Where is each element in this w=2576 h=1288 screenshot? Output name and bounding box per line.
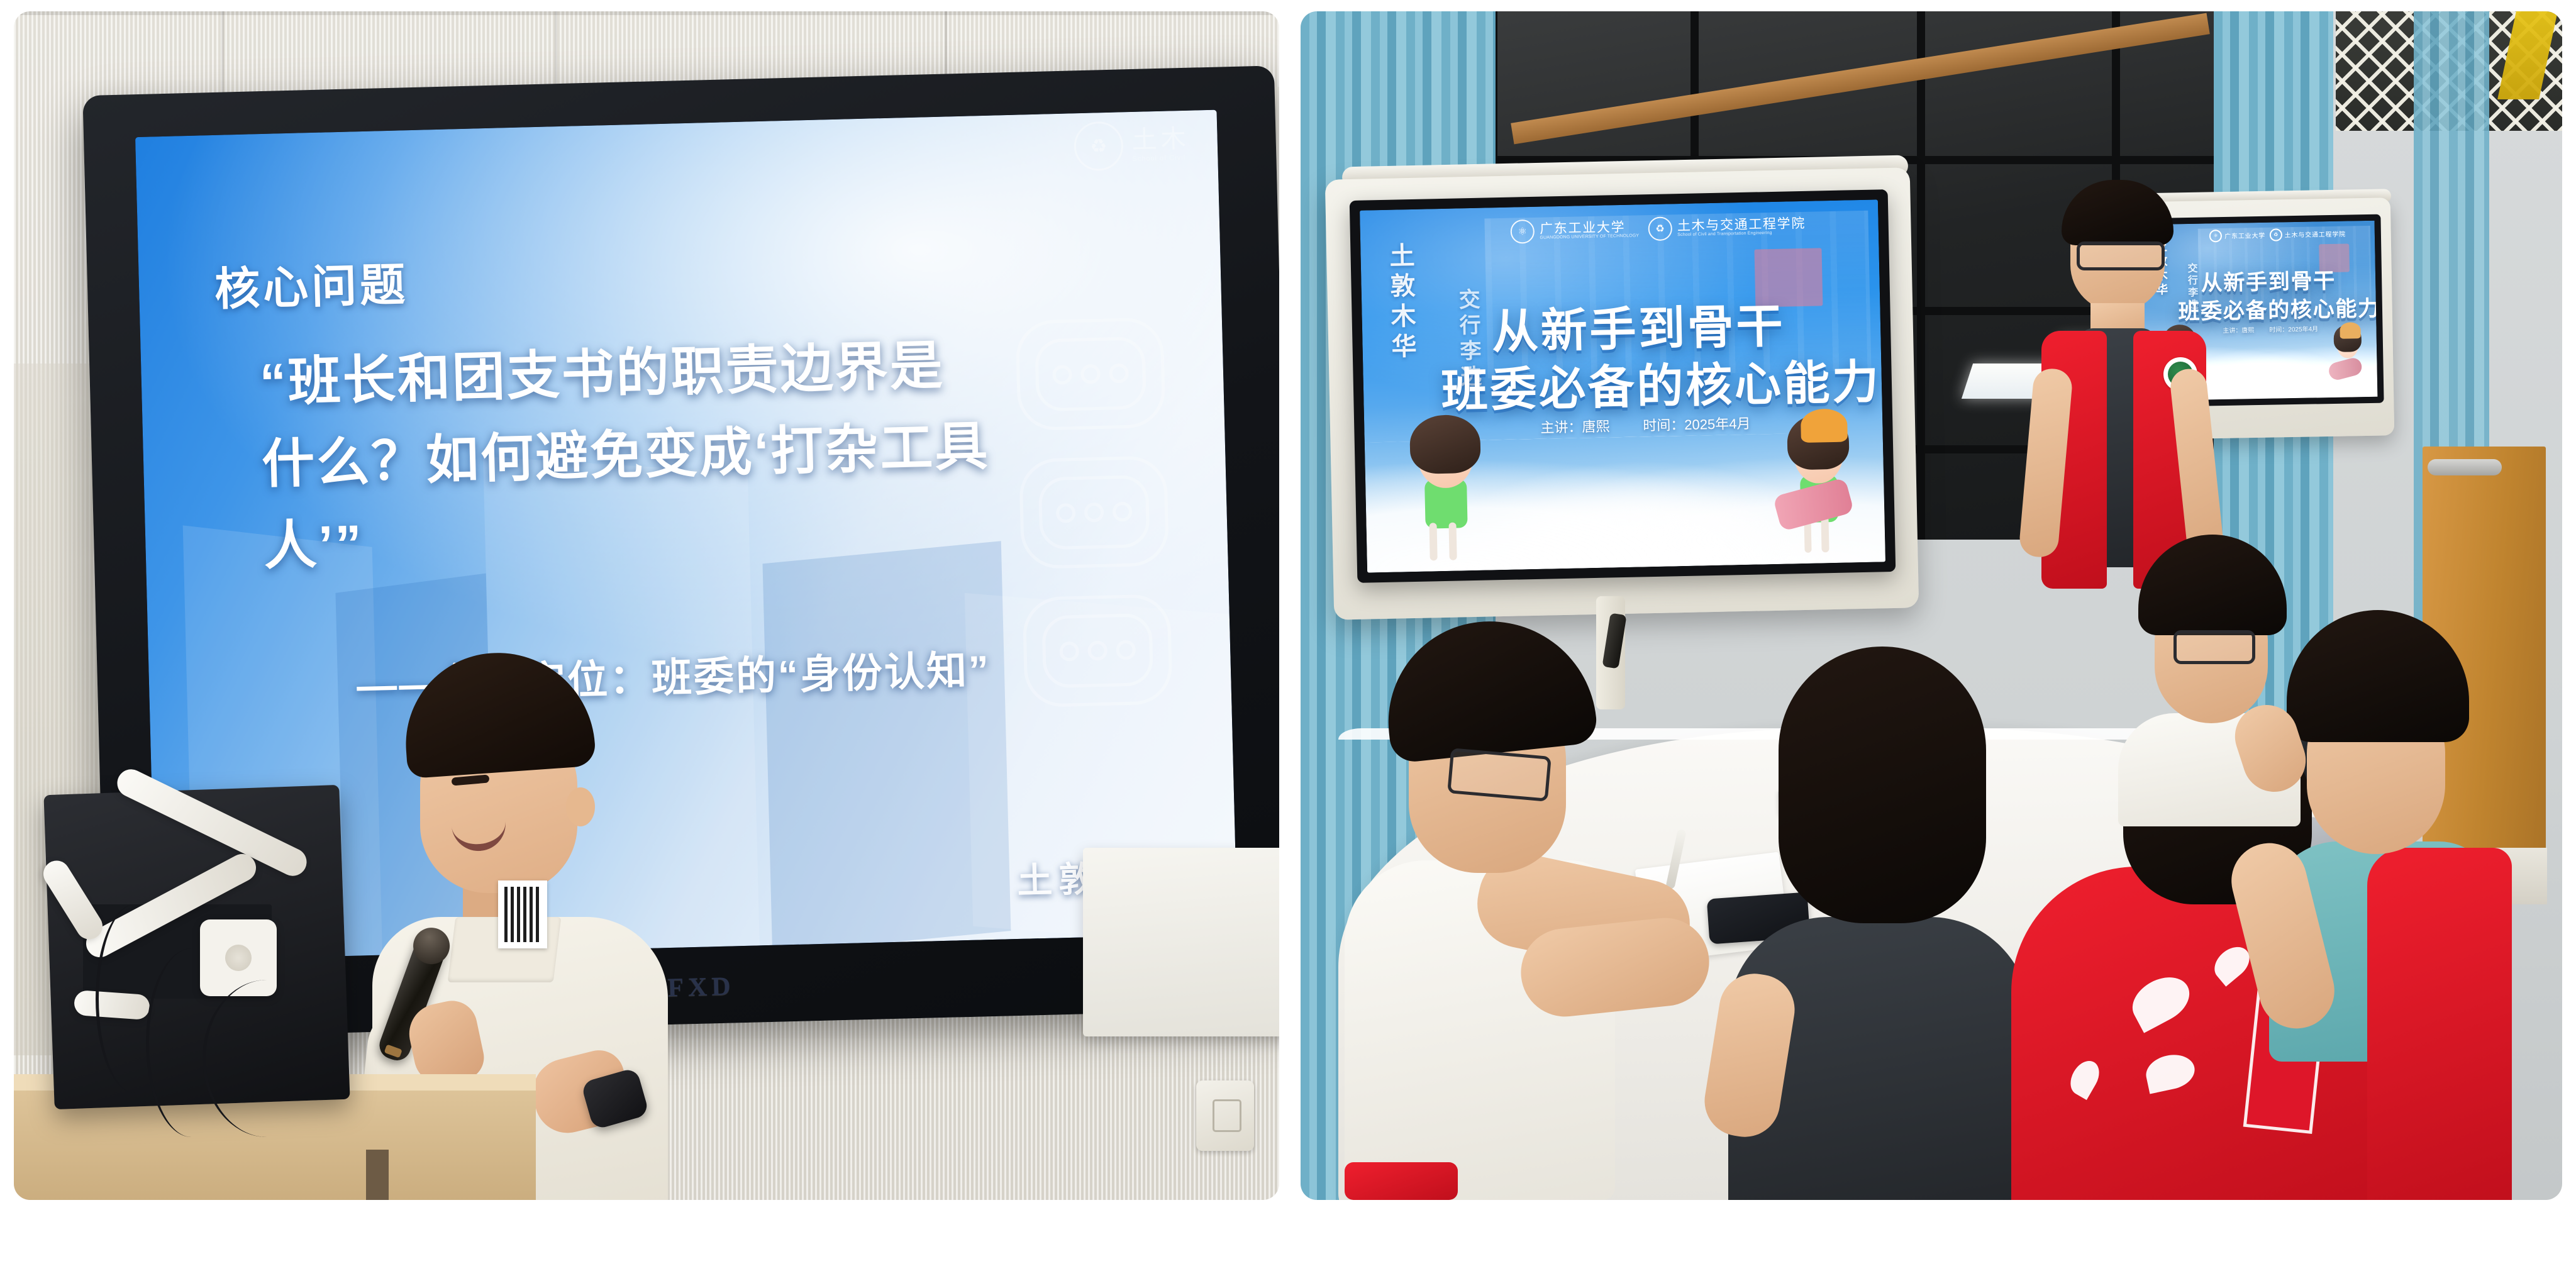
- wall-seam: [555, 11, 557, 93]
- left-photo-panel: ♻ 土木 School of Civil 核心问题 “班长和团支书的职责边界是 …: [14, 11, 1279, 1200]
- chibi-girl-with-mic-icon: [1401, 414, 1492, 561]
- main-screen-surface: ⚛ 广东工业大学 GUANGDONG UNIVERSITY OF TECHNOL…: [1360, 199, 1885, 572]
- student-hair: [1379, 611, 1599, 763]
- watermark-cn-text: 土木: [1131, 126, 1190, 153]
- microphone-tip: [384, 1044, 402, 1058]
- cable: [203, 980, 331, 1137]
- slide-date-label: 时间：2025年4月: [1643, 413, 1751, 435]
- slide-speaker-label: 主讲：唐熙: [1540, 416, 1610, 437]
- slide-speaker-label: 主讲：唐熙: [2223, 325, 2254, 335]
- collage-caption: two-photo side-by-side collage: [0, 0, 1, 1]
- chibi-leg: [1821, 516, 1829, 552]
- slide-date-label: 时间：2025年4月: [2269, 324, 2318, 334]
- university-logo: ⚛ 广东工业大学: [2209, 228, 2265, 242]
- presenter-smile: [452, 820, 508, 854]
- sct-seal-icon: ♻: [2270, 228, 2282, 241]
- qr-code-icon: [504, 887, 541, 942]
- chibi-guitar: [2327, 356, 2364, 382]
- seated-student-glasses: [2106, 525, 2313, 826]
- door-closer-icon: [2428, 459, 2502, 475]
- qr-code-sticker: [498, 880, 547, 948]
- school-name-cn: 土木与交通工程学院: [2285, 229, 2346, 240]
- window-mullion: [1917, 11, 1925, 540]
- presenter-hair: [2062, 180, 2173, 245]
- student-hair: [2138, 535, 2287, 635]
- slide-logo-row: ⚛ 广东工业大学 ♻ 土木与交通工程学院: [2209, 227, 2341, 242]
- slide-heading: 核心问题: [214, 247, 409, 318]
- university-logo: ⚛ 广东工业大学 GUANGDONG UNIVERSITY OF TECHNOL…: [1510, 217, 1639, 243]
- school-logo: ♻ 土木与交通工程学院: [2270, 227, 2346, 241]
- school-seal-icon: ♻: [1074, 121, 1124, 171]
- red-collar-trim: [1345, 1162, 1458, 1200]
- gdut-seal-icon: ⚛: [1510, 219, 1535, 243]
- red-volunteer-vest: [2367, 848, 2512, 1200]
- chibi-beanie: [1801, 409, 1848, 443]
- seated-student-center: [1703, 647, 2055, 1200]
- note-taking-student: [1332, 596, 1684, 1200]
- chibi-beanie: [2340, 322, 2361, 338]
- eyeglasses-icon: [2173, 630, 2255, 664]
- chibi-leg: [1448, 522, 1457, 560]
- wall-power-socket[interactable]: [1196, 1080, 1254, 1151]
- chibi-hair: [1409, 414, 1481, 474]
- student-hair: [2287, 610, 2469, 742]
- chibi-leg: [1429, 523, 1438, 560]
- presenter-eye: [452, 774, 490, 786]
- slide-watermark-logo: ♻ 土木 School of Civil: [1074, 119, 1191, 172]
- presenter-hair: [400, 647, 597, 779]
- eyeglasses-icon: [2077, 241, 2165, 270]
- title-slide: ⚛ 广东工业大学 GUANGDONG UNIVERSITY OF TECHNOL…: [1360, 199, 1885, 572]
- slide-meta-row: 主讲：唐熙 时间：2025年4月: [1540, 413, 1751, 437]
- student-hair: [1779, 647, 1986, 923]
- sct-seal-icon: ♻: [1648, 216, 1672, 241]
- eyeglasses-icon: [1447, 748, 1552, 802]
- slide-vertical-left: 土敦木华: [1381, 242, 1420, 364]
- desk-leg: [366, 1150, 389, 1200]
- slide-meta-row: 主讲：唐熙 时间：2025年4月: [2223, 324, 2318, 335]
- chibi-boy-with-guitar-icon: [1779, 414, 1859, 553]
- chibi-boy-with-guitar-icon: [2329, 325, 2365, 392]
- slide-quote: “班长和团支书的职责边界是 什么？如何避免变成‘打杂工具 人’”: [258, 321, 1069, 587]
- presenter-ear: [566, 787, 595, 826]
- school-logo: ♻ 土木与交通工程学院 School of Civil and Transpor…: [1648, 213, 1806, 240]
- main-wall-screen: ⚛ 广东工业大学 GUANGDONG UNIVERSITY OF TECHNOL…: [1350, 189, 1896, 583]
- chibi-guitar: [1772, 477, 1853, 531]
- watermark-en-text: School of Civil: [1132, 154, 1190, 163]
- right-photo-panel: ⚛ 广东工业大学 GUANGDONG UNIVERSITY OF TECHNOL…: [1301, 11, 2562, 1200]
- wall-seam: [14, 11, 1279, 15]
- university-name-cn: 广东工业大学: [2224, 230, 2265, 240]
- side-whiteboard: [1083, 848, 1279, 1036]
- photo-collage: ♻ 土木 School of Civil 核心问题 “班长和团支书的职责边界是 …: [0, 0, 2576, 1288]
